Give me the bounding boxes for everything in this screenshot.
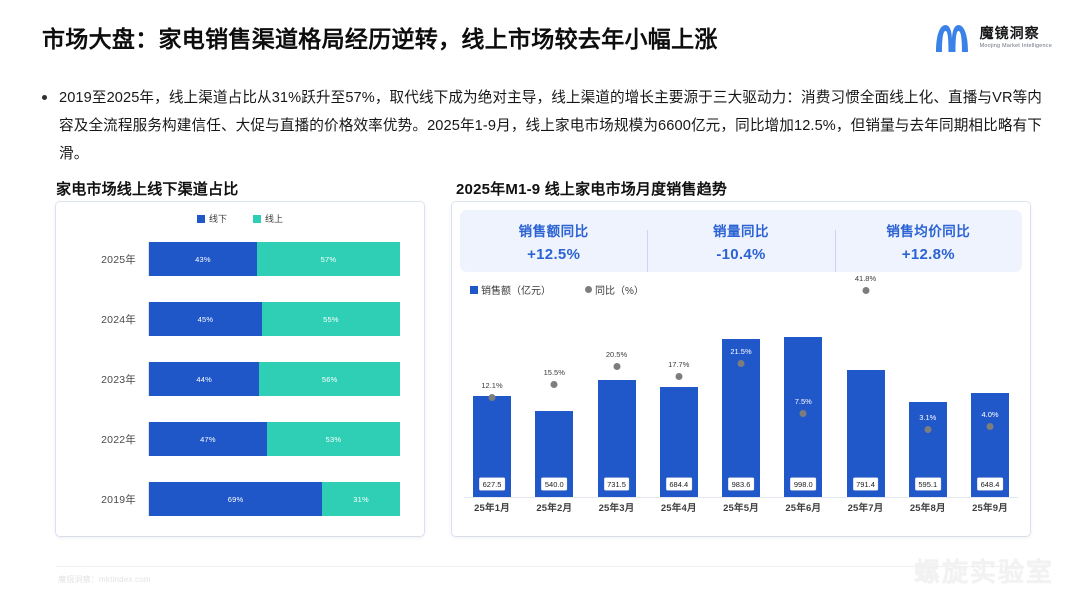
channel-segment-offline: 69% — [149, 482, 322, 516]
legend-swatch-offline-icon — [197, 215, 205, 223]
monthly-column: 731.520.5% — [589, 302, 645, 498]
sales-value-label: 983.6 — [729, 478, 754, 490]
yoy-value-label: 21.5% — [730, 347, 751, 356]
legend-item-yoy: 同比（%） — [585, 282, 644, 297]
legend-item-sales: 销售额（亿元） — [470, 282, 551, 297]
monthly-column: 983.621.5% — [713, 302, 769, 498]
yoy-marker — [613, 363, 620, 370]
watermark: 螺旋实验室 — [914, 552, 1054, 589]
sales-bar: 731.5 — [598, 380, 636, 498]
sales-bar: 998.0 — [784, 337, 822, 498]
yoy-marker — [800, 410, 807, 417]
yoy-value-label: 3.1% — [919, 413, 936, 422]
monthly-column: 595.13.1% — [900, 302, 956, 498]
kpi-card-2: 销量同比-10.4% — [647, 220, 834, 263]
left-chart-title: 家电市场线上线下渠道占比 — [56, 178, 238, 199]
sales-value-label: 540.0 — [542, 478, 567, 490]
x-axis-tick-label: 25年4月 — [651, 500, 707, 514]
summary-bullet: 2019至2025年，线上渠道占比从31%跃升至57%，取代线下成为绝对主导，线… — [42, 84, 1042, 168]
sales-value-label: 627.5 — [480, 478, 505, 490]
x-axis-line — [464, 497, 1018, 498]
legend-item-offline: 线下 — [197, 212, 227, 225]
kpi-label: 销售额同比 — [519, 220, 589, 240]
channel-segment-offline: 44% — [149, 362, 259, 396]
channel-segment-online: 31% — [322, 482, 400, 516]
monthly-sales-card: 销售额同比+12.5%销量同比-10.4%销售均价同比+12.8% 销售额（亿元… — [452, 202, 1030, 536]
summary-text: 2019至2025年，线上渠道占比从31%跃升至57%，取代线下成为绝对主导，线… — [59, 84, 1042, 168]
x-axis-tick-label: 25年8月 — [900, 500, 956, 514]
yoy-marker — [862, 287, 869, 294]
footer-divider — [56, 566, 1024, 567]
legend-swatch-sales-icon — [470, 286, 478, 294]
kpi-strip: 销售额同比+12.5%销量同比-10.4%销售均价同比+12.8% — [460, 210, 1022, 272]
channel-row-year-label: 2023年 — [56, 372, 148, 387]
yoy-marker — [924, 426, 931, 433]
x-axis-tick-label: 25年5月 — [713, 500, 769, 514]
channel-row-track: 44%56% — [148, 362, 400, 396]
channel-row-year-label: 2019年 — [56, 492, 148, 507]
channel-share-bars: 2025年43%57%2024年45%55%2023年44%56%2022年47… — [56, 234, 424, 530]
yoy-marker — [551, 381, 558, 388]
page-title: 市场大盘：家电销售渠道格局经历逆转，线上市场较去年小幅上涨 — [42, 20, 718, 54]
channel-segment-online: 53% — [267, 422, 400, 456]
channel-share-row: 2019年69%31% — [56, 482, 400, 516]
kpi-label: 销售均价同比 — [886, 220, 970, 240]
channel-row-year-label: 2025年 — [56, 252, 148, 267]
monthly-sales-plot: 627.512.1%540.015.5%731.520.5%684.417.7%… — [458, 302, 1024, 498]
yoy-value-label: 17.7% — [668, 360, 689, 369]
channel-share-chart-card: 线下 线上 2025年43%57%2024年45%55%2023年44%56%2… — [56, 202, 424, 536]
channel-chart-legend: 线下 线上 — [56, 212, 424, 225]
x-axis-tick-label: 25年9月 — [962, 500, 1018, 514]
monthly-chart-legend: 销售额（亿元） 同比（%） — [470, 282, 644, 297]
x-axis-tick-label: 25年2月 — [526, 500, 582, 514]
kpi-value: +12.5% — [527, 246, 580, 263]
kpi-label: 销量同比 — [713, 220, 769, 240]
yoy-value-label: 12.1% — [481, 381, 502, 390]
kpi-card-3: 销售均价同比+12.8% — [835, 220, 1022, 263]
sales-bar: 540.0 — [535, 411, 573, 498]
channel-row-year-label: 2022年 — [56, 432, 148, 447]
sales-bar: 648.4 — [971, 393, 1009, 498]
monthly-column: 648.44.0% — [962, 302, 1018, 498]
logo-name-cn: 魔镜洞察 — [980, 26, 1052, 41]
channel-segment-online: 56% — [259, 362, 400, 396]
channel-segment-offline: 45% — [149, 302, 262, 336]
yoy-value-label: 15.5% — [544, 368, 565, 377]
x-axis-tick-label: 25年3月 — [589, 500, 645, 514]
channel-row-track: 43%57% — [148, 242, 400, 276]
channel-segment-online: 55% — [262, 302, 400, 336]
monthly-bar-columns: 627.512.1%540.015.5%731.520.5%684.417.7%… — [458, 302, 1024, 498]
yoy-marker — [987, 423, 994, 430]
sales-value-label: 684.4 — [666, 478, 691, 490]
brand-logo: 魔镜洞察 Moojing Market Intelligence — [932, 22, 1052, 54]
kpi-card-1: 销售额同比+12.5% — [460, 220, 647, 263]
legend-swatch-online-icon — [253, 215, 261, 223]
title-bar: 市场大盘：家电销售渠道格局经历逆转，线上市场较去年小幅上涨 — [42, 20, 718, 54]
sales-bar: 684.4 — [660, 387, 698, 498]
x-axis-tick-label: 25年6月 — [775, 500, 831, 514]
legend-label-sales: 销售额（亿元） — [481, 282, 551, 297]
yoy-marker — [675, 373, 682, 380]
yoy-marker — [738, 360, 745, 367]
sales-bar: 627.5 — [473, 396, 511, 498]
monthly-column: 627.512.1% — [464, 302, 520, 498]
yoy-value-label: 7.5% — [795, 397, 812, 406]
legend-label-offline: 线下 — [209, 212, 227, 225]
channel-segment-offline: 47% — [149, 422, 267, 456]
channel-share-row: 2023年44%56% — [56, 362, 400, 396]
channel-segment-online: 57% — [257, 242, 400, 276]
sales-value-label: 648.4 — [978, 478, 1003, 490]
legend-label-yoy: 同比（%） — [595, 282, 644, 297]
monthly-column: 684.417.7% — [651, 302, 707, 498]
slide-header: 市场大盘：家电销售渠道格局经历逆转，线上市场较去年小幅上涨 魔镜洞察 Mooji… — [0, 14, 1080, 66]
channel-row-track: 69%31% — [148, 482, 400, 516]
channel-share-row: 2022年47%53% — [56, 422, 400, 456]
channel-row-track: 45%55% — [148, 302, 400, 336]
sales-value-label: 791.4 — [853, 478, 878, 490]
monthly-column: 998.07.5% — [775, 302, 831, 498]
channel-segment-offline: 43% — [149, 242, 257, 276]
right-chart-title: 2025年M1-9 线上家电市场月度销售趋势 — [456, 178, 727, 199]
sales-bar: 791.4 — [847, 370, 885, 498]
channel-row-track: 47%53% — [148, 422, 400, 456]
logo-name-en: Moojing Market Intelligence — [980, 44, 1052, 50]
legend-swatch-yoy-icon — [585, 286, 592, 293]
slide-root: 市场大盘：家电销售渠道格局经历逆转，线上市场较去年小幅上涨 魔镜洞察 Mooji… — [0, 0, 1080, 608]
logo-text-block: 魔镜洞察 Moojing Market Intelligence — [980, 26, 1052, 49]
channel-share-row: 2025年43%57% — [56, 242, 400, 276]
yoy-marker — [489, 394, 496, 401]
channel-share-row: 2024年45%55% — [56, 302, 400, 336]
sales-value-label: 731.5 — [604, 478, 629, 490]
yoy-value-label: 4.0% — [981, 410, 998, 419]
sales-value-label: 998.0 — [791, 478, 816, 490]
legend-item-online: 线上 — [253, 212, 283, 225]
yoy-value-label: 41.8% — [855, 274, 876, 283]
sales-value-label: 595.1 — [915, 478, 940, 490]
kpi-value: -10.4% — [716, 246, 765, 263]
x-axis-labels: 25年1月25年2月25年3月25年4月25年5月25年6月25年7月25年8月… — [458, 500, 1024, 514]
x-axis-tick-label: 25年1月 — [464, 500, 520, 514]
monthly-column: 540.015.5% — [526, 302, 582, 498]
footer-source: 魔镜洞察：mktindex.com — [58, 574, 151, 585]
x-axis-tick-label: 25年7月 — [838, 500, 894, 514]
bullet-point-icon — [42, 95, 47, 100]
moojing-m-icon — [932, 22, 972, 54]
channel-row-year-label: 2024年 — [56, 312, 148, 327]
kpi-value: +12.8% — [902, 246, 955, 263]
yoy-value-label: 20.5% — [606, 350, 627, 359]
monthly-column: 791.441.8% — [838, 302, 894, 498]
legend-label-online: 线上 — [265, 212, 283, 225]
